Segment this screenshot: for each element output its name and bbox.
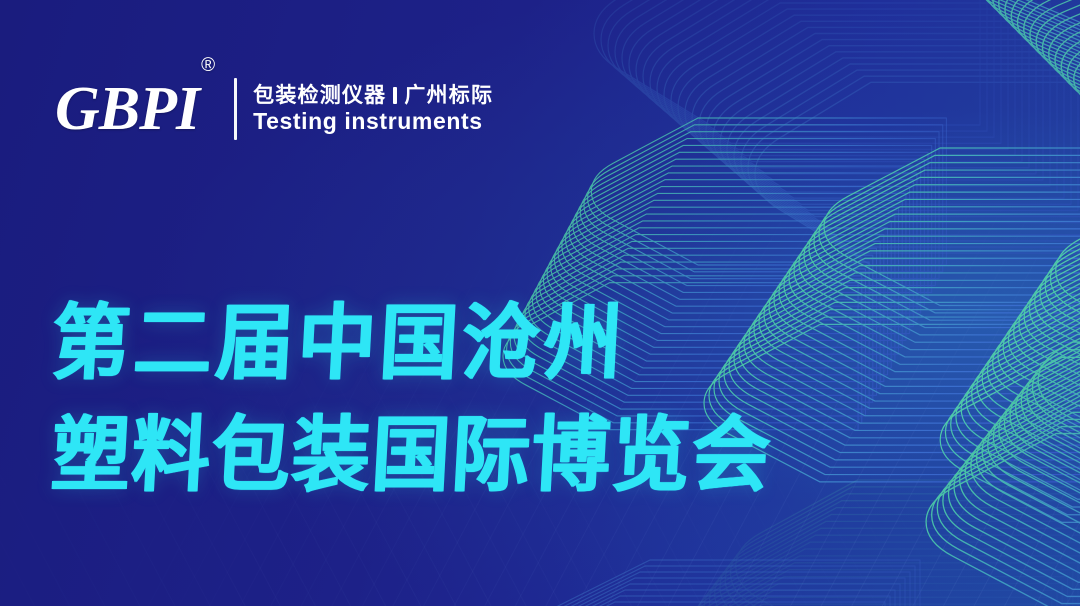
vertical-bar-icon <box>393 87 397 104</box>
gbpi-logo: GBPI® 包装检测仪器 广州标际 Testing instruments <box>55 78 493 140</box>
logo-wordmark-text: GBPI <box>55 75 199 143</box>
event-title: 第二届中国沧州 塑料包装国际博览会 <box>52 288 772 512</box>
event-title-line-2: 塑料包装国际博览会 <box>49 397 775 516</box>
vertical-divider-icon <box>234 78 237 140</box>
logo-chinese-tagline-part1: 包装检测仪器 <box>253 84 386 106</box>
mesh-tube-top-right <box>943 0 1080 158</box>
logo-taglines: 包装检测仪器 广州标际 Testing instruments <box>253 84 493 133</box>
exhibition-banner: GBPI® 包装检测仪器 广州标际 Testing instruments 第二… <box>0 0 1080 606</box>
logo-wordmark: GBPI® <box>55 78 212 140</box>
logo-chinese-tagline: 包装检测仪器 广州标际 <box>253 84 493 106</box>
logo-english-tagline: Testing instruments <box>253 109 493 133</box>
logo-chinese-tagline-part2: 广州标际 <box>404 84 493 106</box>
registered-trademark-icon: ® <box>201 55 214 76</box>
event-title-line-1: 第二届中国沧州 <box>49 285 775 404</box>
